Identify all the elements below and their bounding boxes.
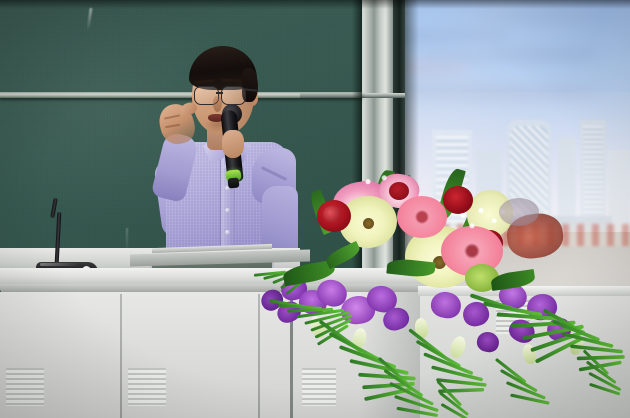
shirt-button [225, 230, 230, 235]
cabinet-vent [128, 368, 166, 406]
desk-mic-base-highlight [40, 263, 80, 266]
shirt-button [225, 208, 230, 213]
photo-scene [0, 0, 630, 418]
greenery-leaf [324, 241, 362, 269]
flower-orchid-purple [475, 330, 501, 354]
flower-babys-breath [357, 170, 401, 196]
eyeglasses-bridge [216, 92, 223, 94]
eyeglasses-lens-right [221, 86, 246, 105]
floral-arrangement [255, 168, 630, 418]
flower-orchid-purple [429, 290, 463, 321]
speaker-nose [213, 96, 222, 112]
flower-orchid-purple [505, 315, 538, 346]
lily-stamen [363, 218, 374, 229]
filler-foliage-gray [499, 198, 539, 226]
cabinet-vent [6, 368, 44, 406]
flower-gerbera-pink [397, 196, 447, 238]
speaker-mic-hand [222, 130, 244, 158]
cabinet-door-seam [120, 294, 122, 418]
orchid-bud-white [448, 334, 468, 359]
microphone-tail [228, 177, 240, 188]
rose-center [323, 206, 341, 222]
